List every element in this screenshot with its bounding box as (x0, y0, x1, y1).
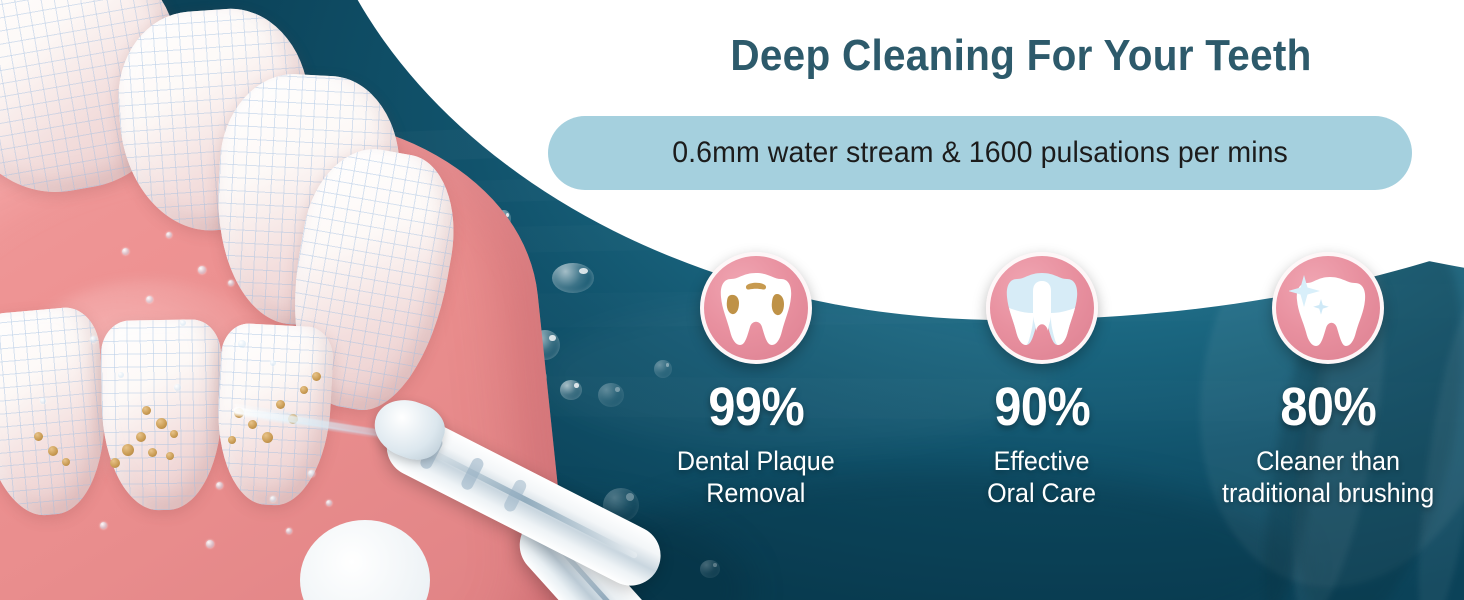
tooth-sparkle-icon (1289, 267, 1367, 349)
plaque-particle (166, 452, 174, 460)
plaque-particle (110, 458, 120, 468)
water-droplet (90, 336, 97, 343)
plaque-particle (276, 400, 285, 409)
water-droplet (40, 398, 46, 404)
stat-percent: 80% (1280, 380, 1376, 434)
plaque-particle (136, 432, 146, 442)
plaque-particle (312, 372, 321, 381)
stat-item: 99% Dental Plaque Removal (620, 252, 892, 510)
water-droplet (286, 528, 292, 534)
plaque-particle (62, 458, 70, 466)
water-droplet (228, 280, 234, 286)
water-droplet (270, 496, 276, 502)
plaque-particle (170, 430, 178, 438)
plaque-particle (300, 386, 308, 394)
water-droplet (174, 384, 181, 391)
subtitle-pill: 0.6mm water stream & 1600 pulsations per… (548, 116, 1412, 190)
stat-caption: Dental Plaque Removal (677, 446, 835, 510)
water-droplet (166, 232, 172, 238)
plaque-particle (48, 446, 58, 456)
water-droplet (100, 522, 107, 529)
subtitle-text: 0.6mm water stream & 1600 pulsations per… (672, 136, 1288, 170)
product-feature-banner: Deep Cleaning For Your Teeth 0.6mm water… (0, 0, 1464, 600)
water-droplet (270, 360, 276, 366)
plaque-particle (262, 432, 273, 443)
plaque-particle (156, 418, 167, 429)
stat-caption: Cleaner than traditional brushing (1222, 446, 1434, 510)
water-droplet (326, 500, 332, 506)
water-droplet (308, 470, 315, 477)
water-droplet (118, 372, 124, 378)
water-droplet (206, 540, 214, 548)
stat-item: 80% Cleaner than traditional brushing (1192, 252, 1464, 510)
plaque-particle (228, 436, 236, 444)
plaque-particle (148, 448, 157, 457)
badge-circle (700, 252, 812, 364)
plaque-particle (122, 444, 134, 456)
tooth-with-plaque-icon (717, 267, 795, 349)
stat-item: 90% Effective Oral Care (906, 252, 1178, 510)
badge-circle (1272, 252, 1384, 364)
plaque-particle (34, 432, 43, 441)
water-droplet (146, 296, 153, 303)
tooth-protected-icon (1003, 267, 1081, 349)
stat-percent: 99% (708, 380, 804, 434)
water-droplet (238, 340, 246, 348)
water-droplet (180, 320, 186, 326)
water-droplet (122, 248, 129, 255)
stats-row: 99% Dental Plaque Removal 90% Effective … (620, 252, 1464, 542)
page-title: Deep Cleaning For Your Teeth (648, 34, 1393, 78)
water-droplet (216, 482, 223, 489)
plaque-particle (142, 406, 151, 415)
water-droplet (198, 266, 206, 274)
stat-caption: Effective Oral Care (988, 446, 1097, 510)
badge-circle (986, 252, 1098, 364)
stat-percent: 90% (994, 380, 1090, 434)
